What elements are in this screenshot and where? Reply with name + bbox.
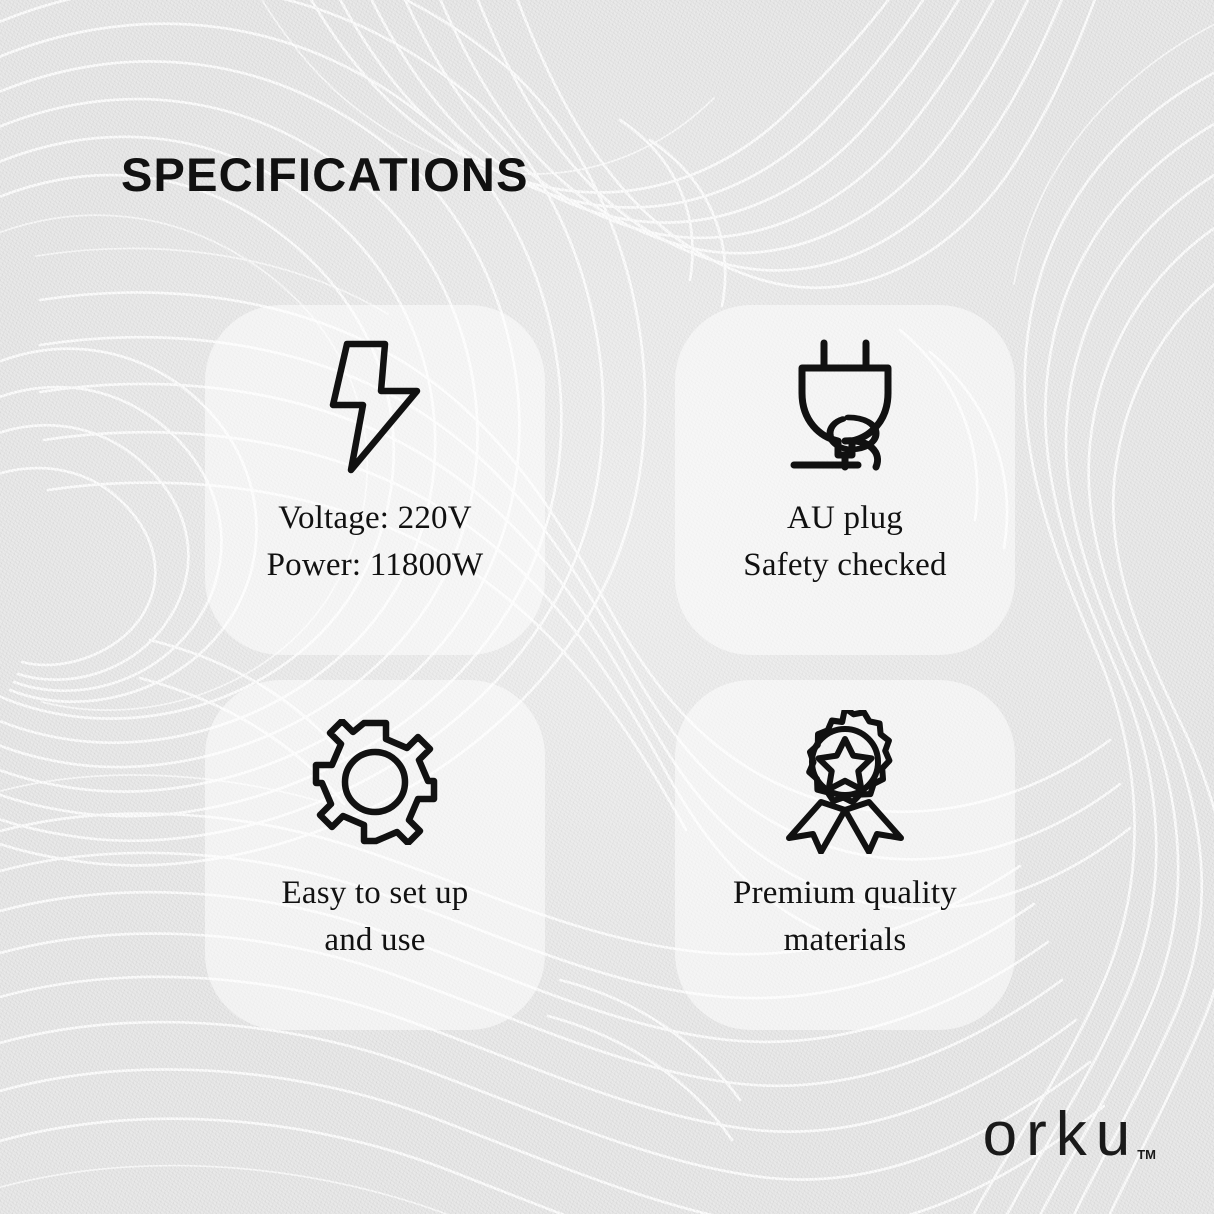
spec-card-text: AU plug Safety checked [743,495,946,589]
page-title: SPECIFICATIONS [121,149,529,201]
gear-icon [312,716,438,848]
spec-card-text: Premium quality materials [733,870,957,964]
lightning-bolt-icon [323,341,427,473]
spec-card-voltage-power: Voltage: 220V Power: 11800W [205,305,545,655]
spec-card-premium-quality: Premium quality materials [675,680,1015,1030]
spec-card-text: Easy to set up and use [281,870,468,964]
award-badge-icon [783,716,907,848]
spec-card-easy-setup: Easy to set up and use [205,680,545,1030]
brand-wordmark: orku [983,1104,1140,1166]
trademark-symbol: TM [1137,1147,1156,1162]
spec-card-au-plug: AU plug Safety checked [675,305,1015,655]
specifications-graphic: SPECIFICATIONS Voltage: 220V Power: 1180… [0,0,1214,1214]
brand-logo: orku TM [983,1104,1156,1166]
power-plug-icon [786,341,904,473]
spec-card-text: Voltage: 220V Power: 11800W [267,495,484,589]
